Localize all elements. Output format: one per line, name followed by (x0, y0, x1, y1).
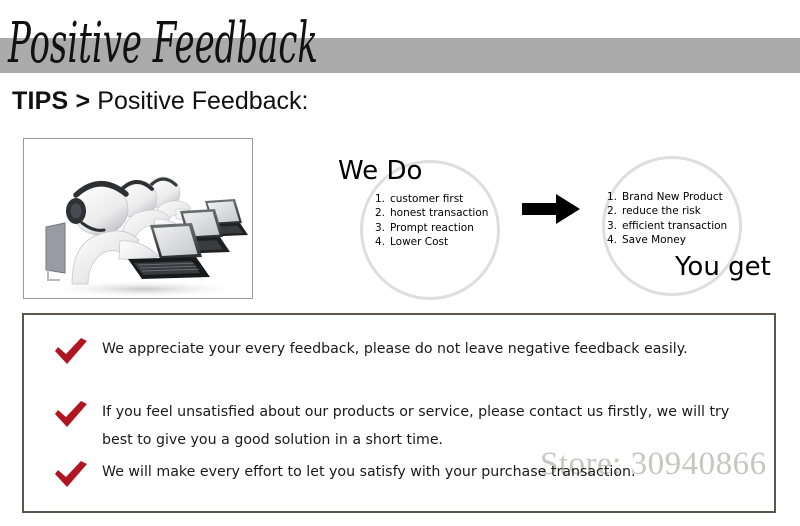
brand-script-logo: Positive Feedback (6, 4, 336, 78)
list-item: 3.Prompt reaction (375, 221, 488, 235)
list-item-label: efficient transaction (622, 220, 727, 232)
feedback-note: We appreciate your every feedback, pleas… (54, 335, 754, 367)
list-item-number: 4. (607, 233, 622, 247)
list-item-label: reduce the risk (622, 205, 701, 217)
we-do-list: 1.customer first 2.honest transaction 3.… (375, 192, 488, 250)
feedback-note-text: We will make every effort to let you sat… (102, 458, 754, 486)
list-item: 3.efficient transaction (607, 219, 727, 233)
list-item-label: honest transaction (390, 207, 488, 219)
feedback-note-text: If you feel unsatisfied about our produc… (102, 398, 754, 454)
list-item: 1.Brand New Product (607, 190, 727, 204)
call-center-illustration-graphic (24, 139, 250, 296)
we-do-title: We Do (338, 156, 422, 186)
list-item-label: Save Money (622, 234, 686, 246)
feedback-note-text: We appreciate your every feedback, pleas… (102, 335, 754, 363)
list-item-number: 2. (607, 204, 622, 218)
brand-script-text: Positive Feedback (7, 11, 318, 76)
page-title: TIPS > Positive Feedback: (12, 86, 308, 116)
check-icon (54, 460, 88, 490)
list-item-label: customer first (390, 193, 463, 205)
right-arrow-icon (520, 193, 582, 225)
list-item: 2.honest transaction (375, 206, 488, 220)
list-item: 4.Save Money (607, 233, 727, 247)
page-title-prefix: TIPS > (12, 87, 90, 115)
list-item-label: Brand New Product (622, 191, 723, 203)
list-item: 2.reduce the risk (607, 204, 727, 218)
check-icon (54, 337, 88, 367)
feedback-notes-box: We appreciate your every feedback, pleas… (22, 313, 776, 513)
list-item-number: 3. (375, 221, 390, 235)
you-get-title: You get (675, 252, 771, 282)
list-item-number: 4. (375, 235, 390, 249)
list-item-number: 3. (607, 219, 622, 233)
you-get-list: 1.Brand New Product 2.reduce the risk 3.… (607, 190, 727, 248)
list-item-number: 1. (607, 190, 622, 204)
list-item: 4.Lower Cost (375, 235, 488, 249)
list-item-label: Lower Cost (390, 236, 448, 248)
list-item-number: 2. (375, 206, 390, 220)
call-center-illustration (23, 138, 253, 299)
list-item-number: 1. (375, 192, 390, 206)
feedback-note: We will make every effort to let you sat… (54, 458, 754, 490)
list-item-label: Prompt reaction (390, 222, 474, 234)
page-title-text: Positive Feedback: (97, 87, 308, 115)
we-do-you-get-flow: We Do 1.customer first 2.honest transact… (330, 140, 790, 300)
check-icon (54, 400, 88, 430)
feedback-note: If you feel unsatisfied about our produc… (54, 398, 754, 454)
list-item: 1.customer first (375, 192, 488, 206)
